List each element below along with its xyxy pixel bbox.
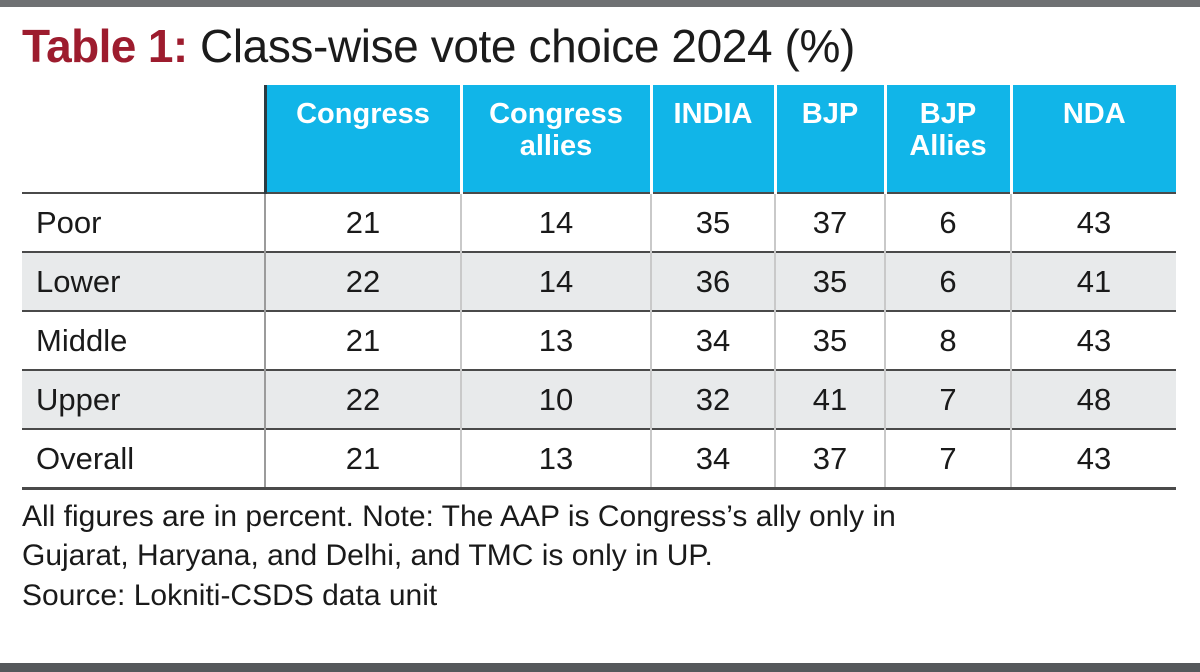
footnote-line-note: All figures are in percent. Note: The AA… (22, 497, 1178, 537)
column-header-nda: NDA (1011, 85, 1176, 193)
column-header-line: Congress (489, 98, 623, 130)
cell-poor-congress-allies: 14 (461, 193, 651, 252)
cell-poor-bjp-allies: 6 (885, 193, 1011, 252)
cell-middle-congress: 21 (265, 311, 461, 370)
column-header-bjp-allies: BJP Allies (885, 85, 1011, 193)
column-header-india: INDIA (651, 85, 775, 193)
table-corner-cell (22, 85, 265, 193)
column-header-line: Congress (296, 98, 430, 130)
cell-upper-bjp: 41 (775, 370, 885, 429)
cell-poor-bjp: 37 (775, 193, 885, 252)
cell-lower-nda: 41 (1011, 252, 1176, 311)
column-header-line: NDA (1063, 98, 1126, 130)
table-container: Congress Congress allies INDIA BJP (22, 85, 1178, 490)
cell-lower-congress: 22 (265, 252, 461, 311)
bottom-frame-bar (0, 663, 1200, 672)
class-wise-vote-choice-table: Congress Congress allies INDIA BJP (22, 85, 1176, 490)
cell-lower-india: 36 (651, 252, 775, 311)
column-header-congress-allies: Congress allies (461, 85, 651, 193)
cell-upper-bjp-allies: 7 (885, 370, 1011, 429)
cell-middle-india: 34 (651, 311, 775, 370)
table-footnote: All figures are in percent. Note: The AA… (22, 490, 1178, 617)
table-row: Middle 21 13 34 35 8 43 (22, 311, 1176, 370)
table-body: Poor 21 14 35 37 6 43 Lower 22 14 36 35 (22, 193, 1176, 489)
cell-overall-india: 34 (651, 429, 775, 489)
row-label-middle: Middle (22, 311, 265, 370)
column-header-line: Allies (909, 130, 986, 162)
cell-lower-bjp: 35 (775, 252, 885, 311)
cell-poor-nda: 43 (1011, 193, 1176, 252)
table-row: Upper 22 10 32 41 7 48 (22, 370, 1176, 429)
column-header-line: BJP (802, 98, 858, 130)
column-header-congress: Congress (265, 85, 461, 193)
table-header: Congress Congress allies INDIA BJP (22, 85, 1176, 193)
row-label-overall: Overall (22, 429, 265, 489)
cell-overall-bjp: 37 (775, 429, 885, 489)
cell-overall-bjp-allies: 7 (885, 429, 1011, 489)
page-title: Table 1: Class-wise vote choice 2024 (%) (22, 7, 1178, 79)
table-row: Lower 22 14 36 35 6 41 (22, 252, 1176, 311)
cell-upper-congress-allies: 10 (461, 370, 651, 429)
table-number-label: Table 1: (22, 20, 188, 72)
cell-lower-congress-allies: 14 (461, 252, 651, 311)
cell-overall-congress: 21 (265, 429, 461, 489)
column-header-line: INDIA (674, 98, 753, 130)
cell-upper-india: 32 (651, 370, 775, 429)
cell-middle-bjp-allies: 8 (885, 311, 1011, 370)
cell-middle-nda: 43 (1011, 311, 1176, 370)
cell-middle-bjp: 35 (775, 311, 885, 370)
row-label-lower: Lower (22, 252, 265, 311)
figure-content: Table 1: Class-wise vote choice 2024 (%) (0, 7, 1200, 663)
cell-lower-bjp-allies: 6 (885, 252, 1011, 311)
cell-upper-congress: 22 (265, 370, 461, 429)
column-header-line: BJP (920, 98, 976, 130)
footnote-line-note-continued: Gujarat, Haryana, and Delhi, and TMC is … (22, 536, 1178, 576)
footnote-line-source: Source: Lokniti-CSDS data unit (22, 576, 1178, 616)
top-frame-bar (0, 0, 1200, 7)
table-title-text: Class-wise vote choice 2024 (%) (188, 20, 855, 72)
cell-overall-nda: 43 (1011, 429, 1176, 489)
cell-overall-congress-allies: 13 (461, 429, 651, 489)
table-row: Poor 21 14 35 37 6 43 (22, 193, 1176, 252)
row-label-upper: Upper (22, 370, 265, 429)
column-header-bjp: BJP (775, 85, 885, 193)
row-label-poor: Poor (22, 193, 265, 252)
figure-root: Table 1: Class-wise vote choice 2024 (%) (0, 0, 1200, 672)
column-header-line: allies (520, 130, 593, 162)
table-header-row: Congress Congress allies INDIA BJP (22, 85, 1176, 193)
cell-poor-india: 35 (651, 193, 775, 252)
table-row: Overall 21 13 34 37 7 43 (22, 429, 1176, 489)
cell-middle-congress-allies: 13 (461, 311, 651, 370)
cell-poor-congress: 21 (265, 193, 461, 252)
cell-upper-nda: 48 (1011, 370, 1176, 429)
